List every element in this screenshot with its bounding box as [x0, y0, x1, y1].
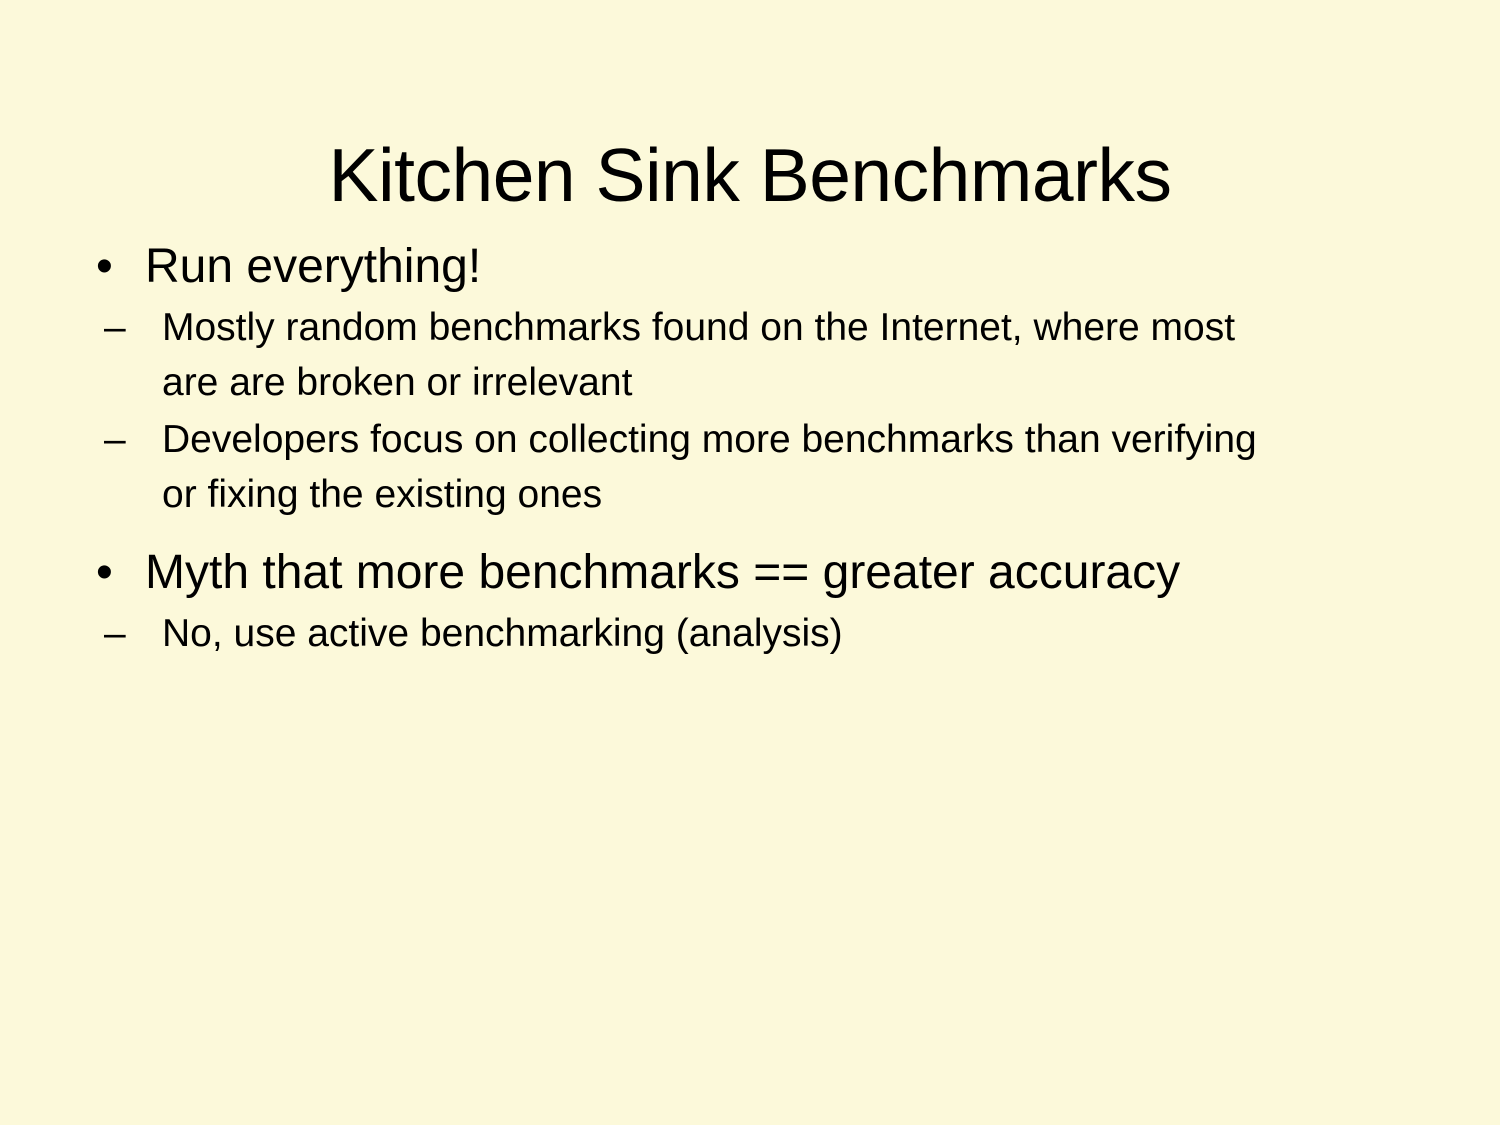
- bullet-item-mostly-random-benchmarks: – Mostly random benchmarks found on the …: [104, 300, 1418, 410]
- bullet-text-level1: Run everything!: [145, 240, 481, 293]
- bullet-text-level2: Developers focus on collecting more benc…: [162, 412, 1267, 522]
- slide-body: • Run everything! – Mostly random benchm…: [88, 238, 1418, 669]
- presentation-slide: Kitchen Sink Benchmarks • Run everything…: [0, 0, 1500, 1125]
- bullet-list-level1: • Run everything! – Mostly random benchm…: [88, 238, 1418, 661]
- bullet-dash-icon: –: [104, 606, 134, 661]
- bullet-dot-icon: •: [96, 238, 120, 296]
- bullet-item-use-active-benchmarking: – No, use active benchmarking (analysis): [104, 606, 1418, 661]
- slide-title: Kitchen Sink Benchmarks: [0, 132, 1500, 218]
- bullet-text-level1: Myth that more benchmarks == greater acc…: [145, 546, 1180, 599]
- bullet-list-level2: – Mostly random benchmarks found on the …: [88, 300, 1418, 522]
- sublist-container-1: – Mostly random benchmarks found on the …: [88, 300, 1418, 522]
- group-spacer: [88, 530, 1418, 544]
- bullet-item-developers-focus: – Developers focus on collecting more be…: [104, 412, 1418, 522]
- sublist-container-2: – No, use active benchmarking (analysis): [88, 606, 1418, 661]
- bullet-dash-icon: –: [104, 412, 134, 467]
- bullet-item-myth-more-benchmarks: • Myth that more benchmarks == greater a…: [88, 544, 1418, 602]
- bullet-list-level2: – No, use active benchmarking (analysis): [88, 606, 1418, 661]
- bullet-item-run-everything: • Run everything!: [88, 238, 1418, 296]
- bullet-dash-icon: –: [104, 300, 134, 355]
- bullet-dot-icon: •: [96, 544, 120, 602]
- bullet-text-level2: Mostly random benchmarks found on the In…: [162, 300, 1267, 410]
- bullet-text-level2: No, use active benchmarking (analysis): [162, 606, 1267, 661]
